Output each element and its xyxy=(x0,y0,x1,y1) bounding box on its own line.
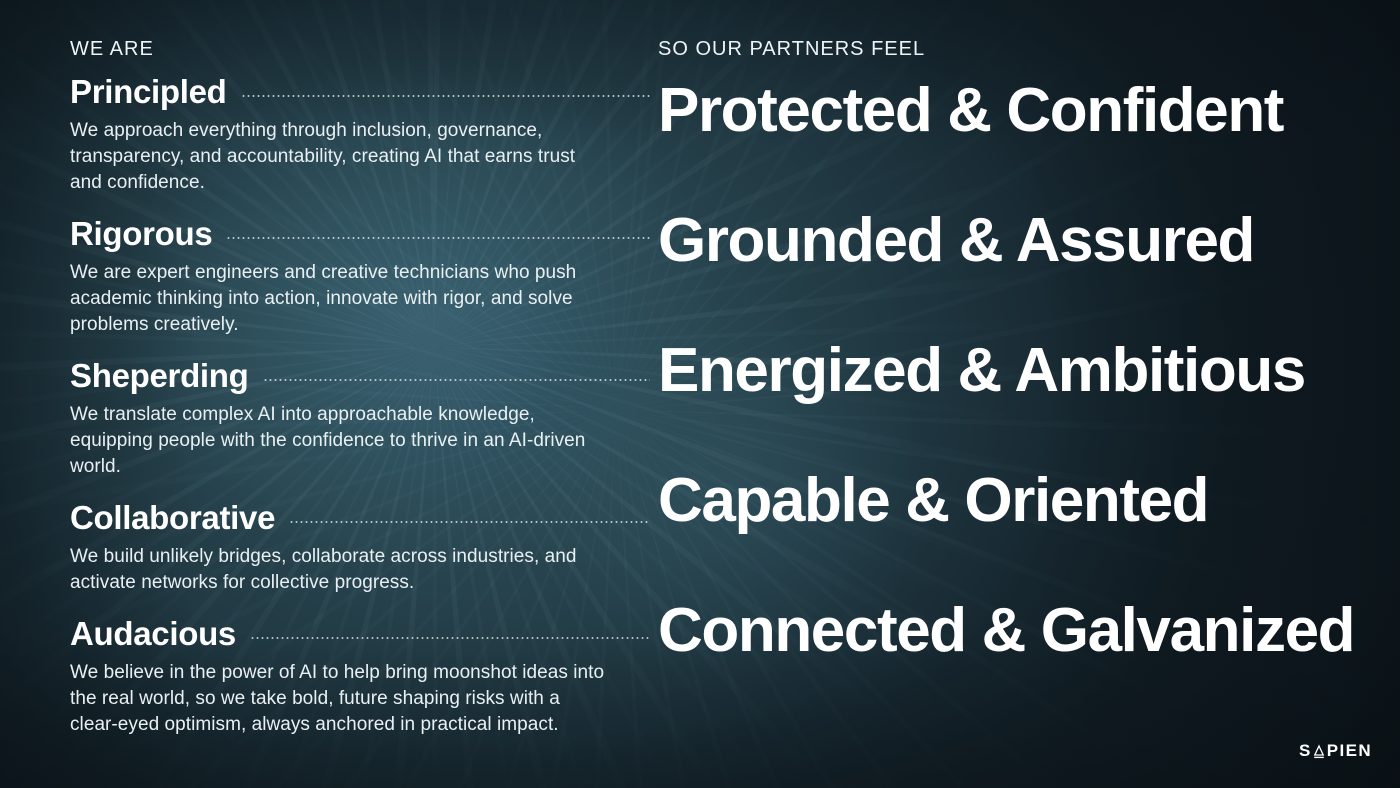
value-description: We believe in the power of AI to help br… xyxy=(70,660,610,738)
dotted-leader-line xyxy=(289,521,650,523)
left-column-eyebrow: WE ARE xyxy=(70,38,154,61)
value-heading-row: Sheperding xyxy=(70,358,650,395)
values-list: Principled We approach everything throug… xyxy=(70,74,650,738)
value-description: We translate complex AI into approachabl… xyxy=(70,402,610,480)
sapien-logo: S PIEN xyxy=(1299,740,1372,760)
logo-suffix: PIEN xyxy=(1327,742,1372,759)
value-heading-row: Audacious xyxy=(70,616,650,653)
dotted-leader-line xyxy=(226,237,650,239)
value-title: Principled xyxy=(70,74,227,111)
feeling-item: Protected & Confident xyxy=(658,80,1283,142)
value-description: We are expert engineers and creative tec… xyxy=(70,260,610,338)
value-block-audacious: Audacious We believe in the power of AI … xyxy=(70,616,650,738)
dotted-leader-line xyxy=(263,379,650,381)
triangle-a-icon xyxy=(1313,744,1326,759)
value-description: We approach everything through inclusion… xyxy=(70,118,610,196)
feeling-item: Energized & Ambitious xyxy=(658,340,1305,402)
value-block-sheperding: Sheperding We translate complex AI into … xyxy=(70,358,650,480)
feeling-item: Capable & Oriented xyxy=(658,470,1208,532)
feeling-item: Grounded & Assured xyxy=(658,210,1254,272)
logo-prefix: S xyxy=(1299,742,1312,759)
dotted-leader-line xyxy=(250,637,650,639)
brand-values-slide: WE ARE SO OUR PARTNERS FEEL Principled W… xyxy=(0,0,1400,788)
feeling-item: Connected & Galvanized xyxy=(658,600,1354,662)
value-description: We build unlikely bridges, collaborate a… xyxy=(70,544,610,596)
value-heading-row: Rigorous xyxy=(70,216,650,253)
logo-wordmark: S PIEN xyxy=(1299,742,1372,759)
value-title: Rigorous xyxy=(70,216,212,253)
dotted-leader-line xyxy=(241,95,650,97)
value-title: Collaborative xyxy=(70,500,275,537)
value-heading-row: Principled xyxy=(70,74,650,111)
value-title: Sheperding xyxy=(70,358,249,395)
value-block-rigorous: Rigorous We are expert engineers and cre… xyxy=(70,216,650,338)
value-block-principled: Principled We approach everything throug… xyxy=(70,74,650,196)
value-title: Audacious xyxy=(70,616,236,653)
right-column-eyebrow: SO OUR PARTNERS FEEL xyxy=(658,38,925,61)
value-block-collaborative: Collaborative We build unlikely bridges,… xyxy=(70,500,650,596)
value-heading-row: Collaborative xyxy=(70,500,650,537)
